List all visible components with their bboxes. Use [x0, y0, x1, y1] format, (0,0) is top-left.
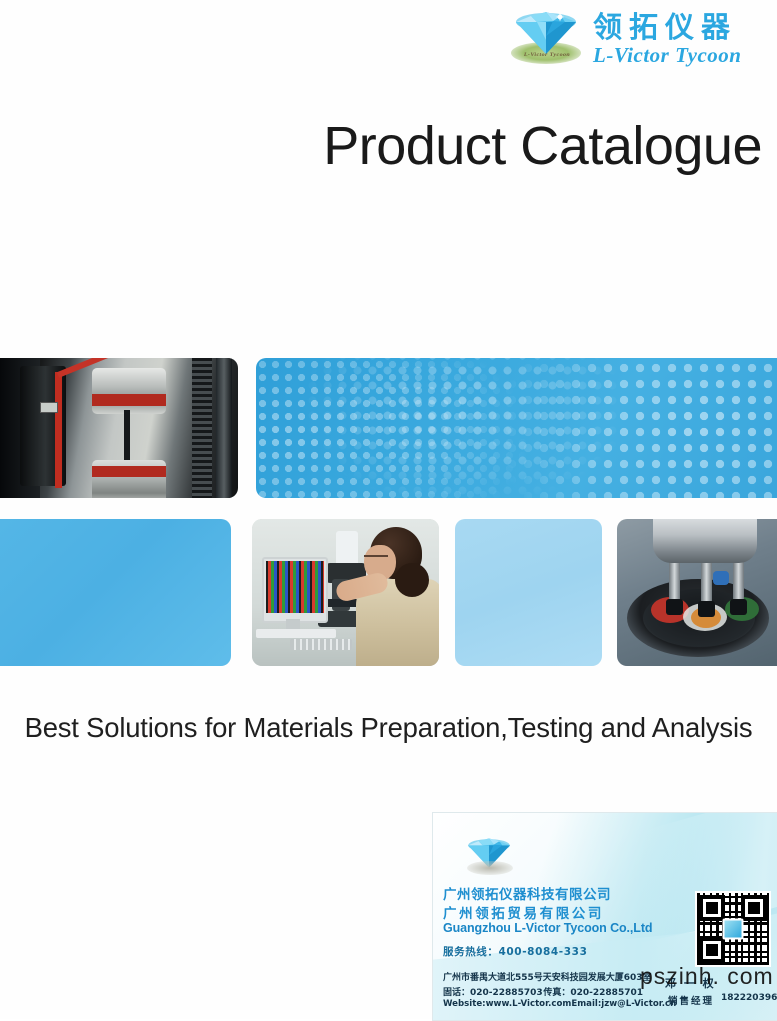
machine-rail-side: [216, 358, 232, 498]
qr-center-logo-icon: [723, 919, 744, 940]
polisher-foot-2: [698, 601, 715, 617]
card-phone-fax-row: 固话：020-22885703 传真：020-22885701: [443, 985, 643, 998]
gem-icon-svg: [513, 10, 579, 56]
polisher-blue-part: [713, 571, 729, 585]
card-company-cn-1: 广州领拓仪器科技有限公司: [443, 883, 611, 903]
polisher-foot-1: [666, 599, 683, 615]
card-hotline: 服务热线：400-8084-333: [443, 944, 587, 959]
light-blue-panel-mid: [455, 519, 602, 666]
machine-lower-grip: [92, 460, 166, 498]
image-collage: [0, 358, 777, 670]
blue-halftone-dots-panel: [256, 358, 777, 498]
qr-finder-bottom-left: [699, 937, 725, 963]
card-fax: 传真：020-22885701: [543, 985, 643, 998]
tensile-testing-machine-photo: [0, 358, 238, 498]
monitor-stand: [286, 619, 300, 629]
operator-hair-back: [395, 563, 429, 597]
gem-diamond-logo-icon: L-Victor Tycoon: [505, 8, 587, 70]
keyboard: [290, 639, 352, 650]
blue-solid-panel-left: [0, 519, 231, 666]
desk-surface: [256, 629, 336, 638]
card-contact-mobile: 18222039610: [721, 993, 777, 1003]
brand-text: 领拓仪器 L-Victor Tycoon: [593, 13, 741, 66]
polisher-foot-3: [730, 599, 747, 615]
cover-tagline: Best Solutions for Materials Preparation…: [8, 712, 769, 744]
card-website[interactable]: Website:www.L-Victor.com: [443, 999, 571, 1009]
card-email[interactable]: Email:jzw@L-Victor.cn: [571, 999, 676, 1009]
card-web-email-row: Website:www.L-Victor.com Email:jzw@L-Vic…: [443, 999, 648, 1009]
card-company-en: Guangzhou L-Victor Tycoon Co.,Ltd: [443, 921, 652, 935]
qr-code-icon[interactable]: [695, 891, 771, 967]
microscope-operator-photo: [252, 519, 439, 666]
machine-red-bar: [55, 372, 62, 488]
page-title: Product Catalogue: [0, 115, 762, 177]
machine-label-plate: [40, 402, 58, 413]
site-watermark: pszinh. com: [640, 963, 774, 990]
card-address: 广州市番禺大道北555号天安科技园发展大厦603室: [443, 970, 652, 983]
machine-rail-toothed: [192, 358, 212, 498]
polisher-head: [653, 519, 757, 563]
brand-name-cn: 领拓仪器: [593, 13, 741, 42]
brand-name-en: L-Victor Tycoon: [593, 45, 741, 66]
qr-finder-top-right: [741, 895, 767, 921]
monitor-screen-image: [266, 561, 324, 613]
card-contact-role: 销售经理: [668, 993, 714, 1007]
card-company-cn-2: 广州领拓贸易有限公司: [443, 902, 604, 922]
machine-upper-grip: [92, 368, 166, 414]
card-logo-shadow: [467, 861, 513, 875]
qr-code-matrix: [697, 893, 769, 965]
gem-diamond-logo-icon: [465, 837, 517, 879]
card-phone: 固话：020-22885703: [443, 985, 543, 998]
qr-finder-top-left: [699, 895, 725, 921]
operator-glasses: [364, 555, 388, 562]
logo-underline-text: L-Victor Tycoon: [512, 52, 582, 57]
brand-header: L-Victor Tycoon 领拓仪器 L-Victor Tycoon: [505, 4, 777, 74]
dot-cluster-right: [256, 358, 777, 498]
computer-monitor: [262, 557, 328, 623]
grinder-polisher-photo: [617, 519, 777, 666]
